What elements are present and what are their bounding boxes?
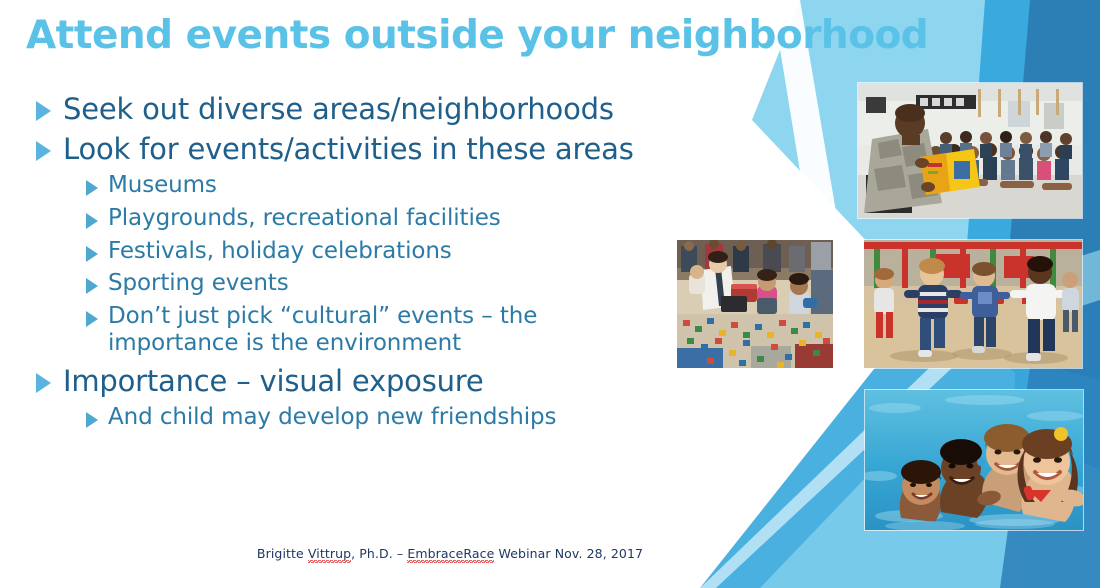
- bullet-triangle-icon: [36, 373, 51, 393]
- photo-pool-kids-artwork: [865, 390, 1083, 530]
- bullet-text: Playgrounds, recreational facilities: [108, 205, 501, 233]
- footer-part-2: , Ph.D. –: [351, 546, 407, 561]
- bullet-triangle-icon: [36, 141, 51, 161]
- bullet-triangle-icon: [86, 278, 98, 294]
- bullet-item-9: And child may develop new friendships: [86, 404, 716, 432]
- photo-soldier-reading: [858, 83, 1082, 218]
- photo-children-blocks-artwork: [677, 240, 833, 368]
- bullet-item-8: Importance – visual exposure: [36, 364, 716, 398]
- photo-playground-running-artwork: [864, 240, 1082, 368]
- photo-children-blocks: [677, 240, 833, 368]
- footer-misspelled-embracerace: EmbraceRace: [407, 546, 494, 563]
- bullet-item-2: Look for events/activities in these area…: [36, 132, 716, 166]
- bullet-triangle-icon: [86, 412, 98, 428]
- footer-part-3: Webinar Nov. 28, 2017: [494, 546, 643, 561]
- footer-part-1: Brigitte: [257, 546, 308, 561]
- footer-attribution: Brigitte Vittrup, Ph.D. – EmbraceRace We…: [0, 546, 900, 561]
- bullet-item-3: Museums: [86, 172, 716, 200]
- bullet-text: Seek out diverse areas/neighborhoods: [63, 92, 614, 126]
- bullet-item-1: Seek out diverse areas/neighborhoods: [36, 92, 716, 126]
- footer-misspelled-vittrup: Vittrup: [308, 546, 351, 563]
- bullet-triangle-icon: [86, 311, 98, 327]
- slide-title: Attend events outside your neighborhood: [26, 16, 886, 57]
- bullet-text: Sporting events: [108, 270, 289, 298]
- bullet-item-6: Sporting events: [86, 270, 716, 298]
- bullet-text: Don’t just pick “cultural” events – the …: [108, 303, 618, 358]
- bullet-triangle-icon: [86, 246, 98, 262]
- bullet-text: Festivals, holiday celebrations: [108, 238, 452, 266]
- bullet-text: Importance – visual exposure: [63, 364, 484, 398]
- bullet-text: Look for events/activities in these area…: [63, 132, 634, 166]
- bullet-item-7: Don’t just pick “cultural” events – the …: [86, 303, 716, 358]
- bullet-list: Seek out diverse areas/neighborhoods Loo…: [36, 92, 716, 437]
- photo-soldier-reading-artwork: [858, 83, 1082, 218]
- bullet-text: And child may develop new friendships: [108, 404, 556, 432]
- bullet-triangle-icon: [36, 101, 51, 121]
- bullet-triangle-icon: [86, 180, 98, 196]
- photo-playground-running: [864, 240, 1082, 368]
- presentation-slide: Attend events outside your neighborhood …: [0, 0, 1100, 588]
- bullet-item-5: Festivals, holiday celebrations: [86, 238, 716, 266]
- photo-pool-kids: [865, 390, 1083, 530]
- bullet-text: Museums: [108, 172, 217, 200]
- bullet-item-4: Playgrounds, recreational facilities: [86, 205, 716, 233]
- bullet-triangle-icon: [86, 213, 98, 229]
